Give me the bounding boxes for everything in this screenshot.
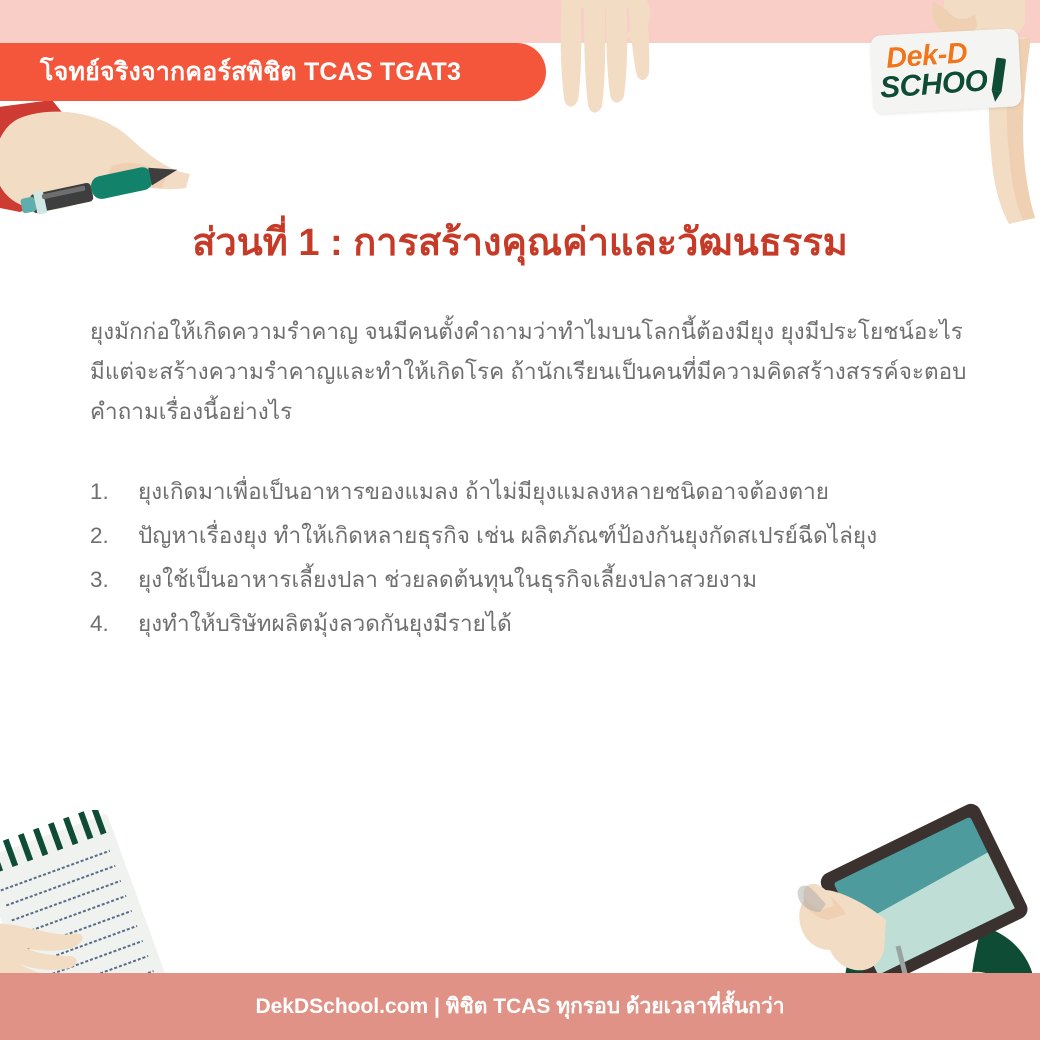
choice-list: 1. ยุงเกิดมาเพื่อเป็นอาหารของแมลง ถ้าไม่… <box>90 472 980 648</box>
dekd-school-logo: Dek-D SCHOO <box>872 32 1020 110</box>
page-title: ส่วนที่ 1 : การสร้างคุณค่าและวัฒนธรรม <box>0 222 1040 266</box>
choice-number: 1. <box>90 472 138 512</box>
choice-text: ยุงใช้เป็นอาหารเลี้ยงปลา ช่วยลดต้นทุนในธ… <box>138 560 980 600</box>
choice-text: ยุงทำให้บริษัทผลิตมุ้งลวดกันยุงมีรายได้ <box>138 604 980 644</box>
question-paragraph: ยุงมักก่อให้เกิดความรำคาญ จนมีคนตั้งคำถา… <box>90 312 970 432</box>
poster-canvas: โจทย์จริงจากคอร์สพิชิต TCAS TGAT3 Dek-D … <box>0 0 1040 1040</box>
footer-text: DekDSchool.com | พิชิต TCAS ทุกรอบ ด้วยเ… <box>255 990 784 1023</box>
choice-text: ปัญหาเรื่องยุง ทำให้เกิดหลายธุรกิจ เช่น … <box>138 516 980 556</box>
hand-holding-pen-illustration <box>0 100 240 235</box>
choice-number: 4. <box>90 604 138 644</box>
choice-number: 2. <box>90 516 138 556</box>
footer-band: DekDSchool.com | พิชิต TCAS ทุกรอบ ด้วยเ… <box>0 973 1040 1040</box>
pointing-hand-left-illustration <box>540 0 670 119</box>
ribbon-label: โจทย์จริงจากคอร์สพิชิต TCAS TGAT3 <box>40 52 461 92</box>
choice-number: 3. <box>90 560 138 600</box>
list-item[interactable]: 3. ยุงใช้เป็นอาหารเลี้ยงปลา ช่วยลดต้นทุน… <box>90 560 980 600</box>
list-item[interactable]: 4. ยุงทำให้บริษัทผลิตมุ้งลวดกันยุงมีรายไ… <box>90 604 980 644</box>
list-item[interactable]: 1. ยุงเกิดมาเพื่อเป็นอาหารของแมลง ถ้าไม่… <box>90 472 980 512</box>
list-item[interactable]: 2. ปัญหาเรื่องยุง ทำให้เกิดหลายธุรกิจ เช… <box>90 516 980 556</box>
header-ribbon: โจทย์จริงจากคอร์สพิชิต TCAS TGAT3 <box>0 43 546 101</box>
choice-text: ยุงเกิดมาเพื่อเป็นอาหารของแมลง ถ้าไม่มีย… <box>138 472 980 512</box>
